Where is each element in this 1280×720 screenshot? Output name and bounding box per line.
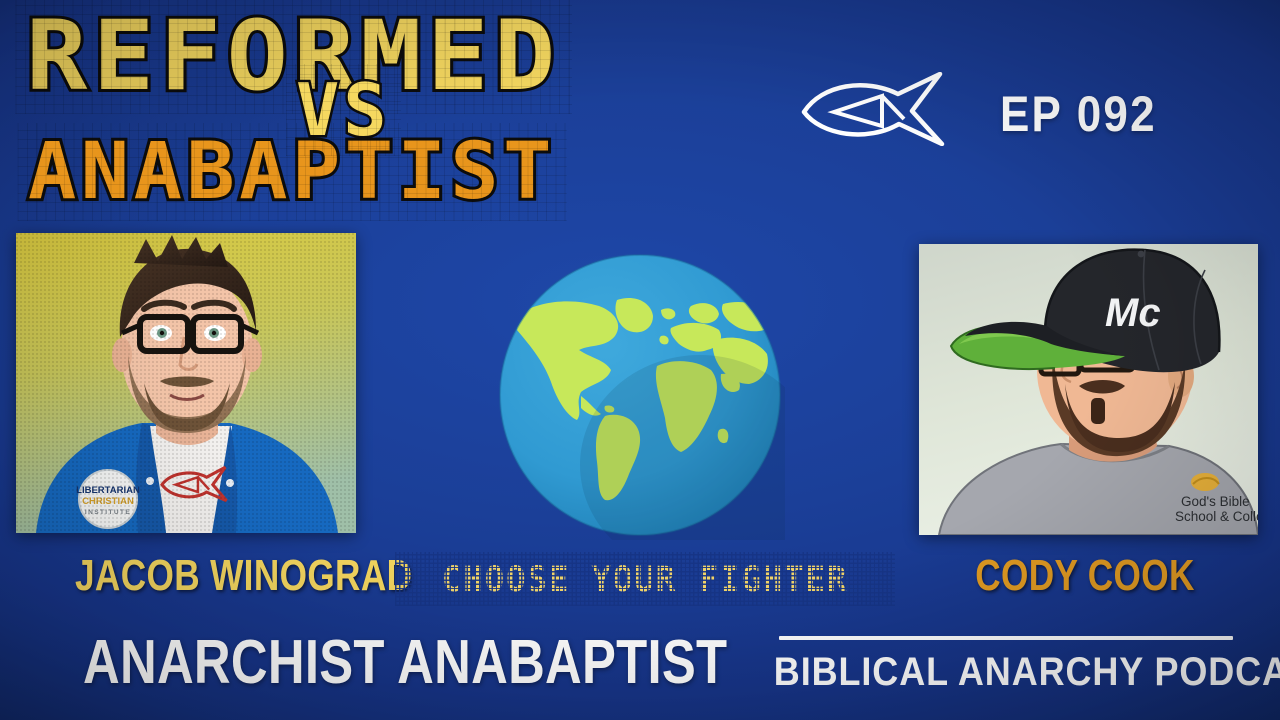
- earth-globe-icon: [495, 250, 785, 540]
- podcast-thumbnail: REFORMED VS ANABAPTIST EP 092: [0, 0, 1280, 720]
- choose-your-fighter-label: CHOOSE YOUR FIGHTER: [417, 560, 873, 600]
- svg-text:God's Bible: God's Bible: [1181, 494, 1250, 509]
- title-versus: VS: [296, 74, 391, 146]
- podcast-divider-rule: [779, 636, 1233, 640]
- tagline-anarchist-anabaptist: ANARCHIST ANABAPTIST: [83, 627, 657, 698]
- cody-cook-portrait: Mc God's Bible School & College: [919, 244, 1258, 535]
- cap-logo-text: Mc: [1105, 291, 1161, 335]
- podcast-title: BIBLICAL ANARCHY PODCAST: [774, 650, 1238, 695]
- ichthys-anarchy-fish-icon: [800, 72, 970, 146]
- title-line-reformed: REFORMED: [26, 8, 561, 104]
- guest-name-right: CODY COOK: [945, 551, 1225, 601]
- jacob-winograd-portrait: LIBERTARIAN CHRISTIAN INSTITUTE: [16, 233, 356, 533]
- guest-name-left: JACOB WINOGRAD: [75, 551, 355, 601]
- svg-text:CHRISTIAN: CHRISTIAN: [82, 496, 134, 507]
- svg-text:LIBERTARIAN: LIBERTARIAN: [76, 485, 140, 496]
- svg-text:INSTITUTE: INSTITUTE: [85, 509, 131, 516]
- episode-number-label: EP 092: [1000, 85, 1157, 143]
- title-line-anabaptist: ANABAPTIST: [28, 133, 556, 211]
- svg-text:School & College: School & College: [1175, 509, 1258, 524]
